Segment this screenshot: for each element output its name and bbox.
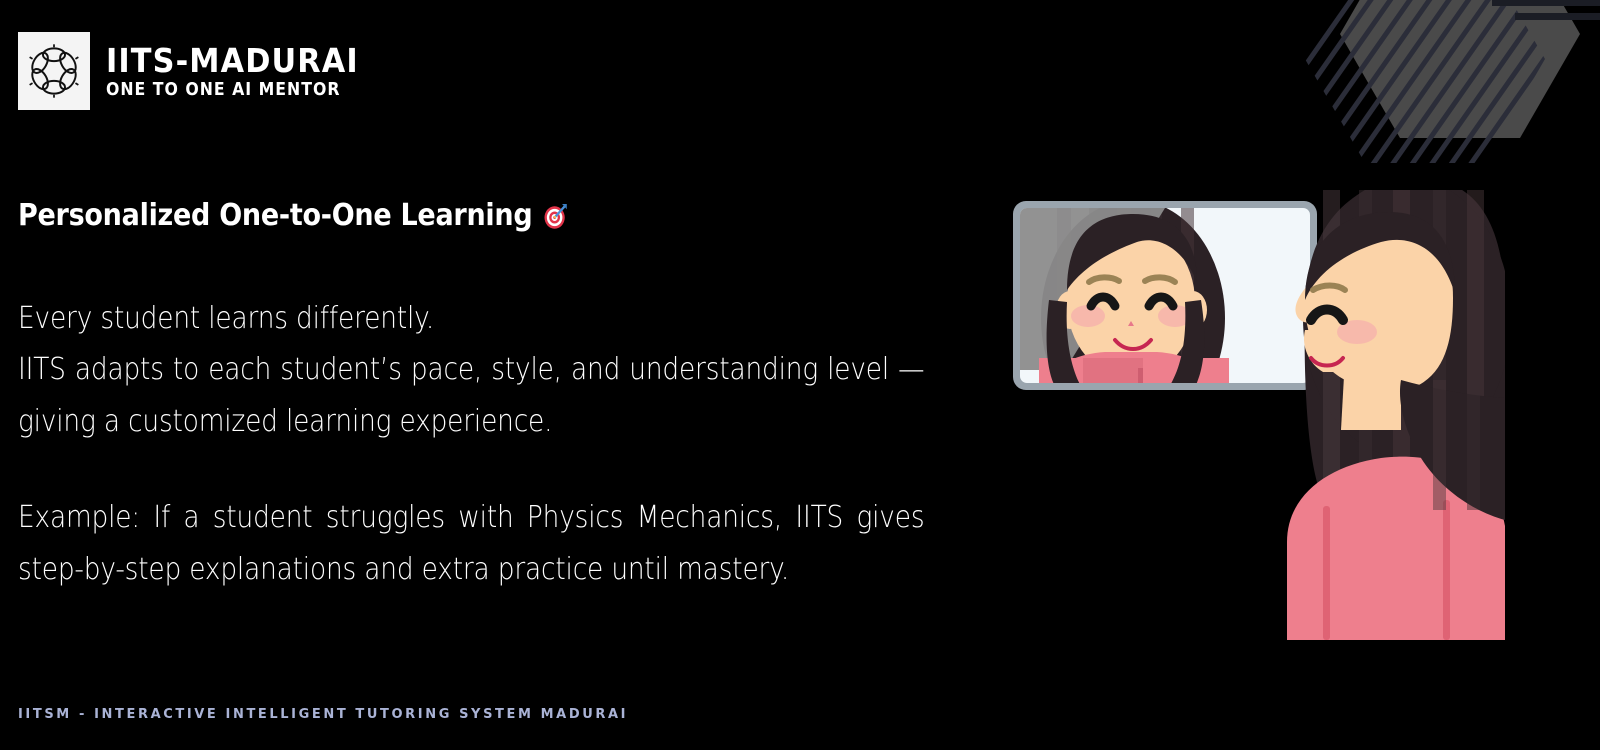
corner-bar-top — [1492, 0, 1600, 6]
paragraph-intro-line-1: Every student learns differently. — [18, 293, 924, 345]
illustration-woman-mirror — [1005, 190, 1505, 640]
reflection-shirt-shade — [1083, 358, 1143, 398]
corner-bar-second — [1515, 13, 1600, 20]
brand-subtitle: ONE TO ONE AI MENTOR — [106, 81, 353, 99]
headline-text: Personalized One-to-One Learning — [18, 196, 532, 237]
paragraph-intro-line-2: IITS adapts to each student’s pace, styl… — [18, 344, 924, 448]
celtic-knot-ring-logo-icon — [18, 32, 90, 110]
dart-target-emoji-svg — [541, 201, 568, 231]
illustration-svg — [1005, 190, 1505, 640]
page-title: Personalized One-to-One Learning — [18, 196, 828, 237]
dart-target-emoji-icon — [541, 201, 568, 231]
hexagon-striped — [1270, 0, 1600, 200]
brand-title: IITS-MADURAI — [106, 44, 359, 79]
paragraph-intro: Every student learns differently. IITS a… — [18, 293, 924, 449]
brand-text: IITS-MADURAI ONE TO ONE AI MENTOR — [106, 42, 381, 99]
celtic-knot-ring-logo-svg — [25, 42, 83, 100]
slide-root: IITS-MADURAI ONE TO ONE AI MENTOR Person… — [0, 0, 1600, 750]
mirror — [1013, 200, 1317, 440]
footer-caption: IITSM - INTERACTIVE INTELLIGENT TUTORING… — [18, 707, 628, 722]
foreground-shirt-fold-left — [1323, 506, 1330, 640]
brand-block: IITS-MADURAI ONE TO ONE AI MENTOR — [18, 32, 381, 110]
main-content: Personalized One-to-One Learning Every s… — [18, 196, 918, 596]
woman-foreground — [1287, 190, 1505, 640]
foreground-shirt-fold-right — [1443, 500, 1450, 640]
hexagon-decoration-svg — [1270, 0, 1600, 200]
mirror-reflection — [1020, 200, 1229, 440]
hexagon-decoration — [1270, 0, 1600, 200]
paragraph-example: Example: If a student struggles with Phy… — [18, 492, 924, 596]
hexagon-solid — [1270, 0, 1600, 200]
